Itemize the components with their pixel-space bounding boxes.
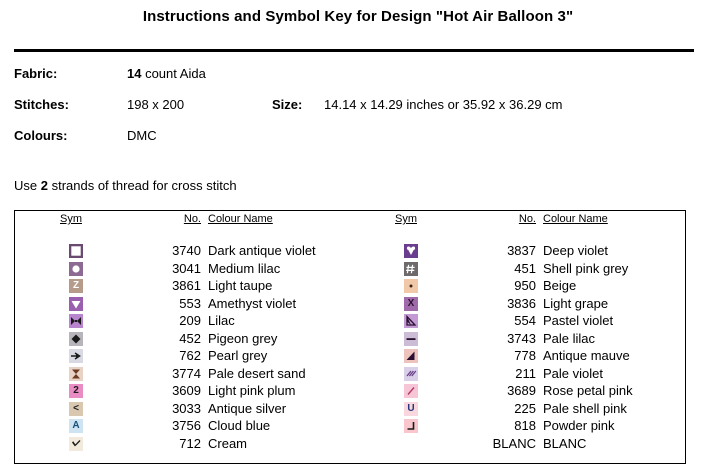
table-row: U225Pale shell pink [350,401,685,419]
symbol-swatch-icon [404,384,418,398]
table-row: 211Pale violet [350,366,685,384]
colour-name: Lilac [208,313,235,328]
dmc-number: 3743 [470,331,536,346]
symbol-swatch-icon: U [404,402,418,416]
table-row: 762Pearl grey [15,348,350,366]
dmc-number: 778 [470,348,536,363]
dmc-number: 553 [135,296,201,311]
table-row: 209Lilac [15,313,350,331]
table-row: 950Beige [350,278,685,296]
title-divider [14,49,694,52]
symbol-swatch-icon: 2 [69,384,83,398]
colour-name: Pearl grey [208,348,267,363]
size-label: Size: [272,97,302,112]
colour-name: Deep violet [543,243,608,258]
key-header-right: Sym No. Colour Name [350,211,685,233]
symbol-swatch-icon [69,262,83,276]
table-row: 3740Dark antique violet [15,243,350,261]
table-row: 23609Light pink plum [15,383,350,401]
fabric-count: 14 [127,66,141,81]
strands-suffix: strands of thread for cross stitch [48,178,237,193]
dmc-number: 554 [470,313,536,328]
symbol-swatch-icon [69,297,83,311]
colour-name: Medium lilac [208,261,280,276]
info-row-colours: Colours: DMC [14,128,704,159]
key-rows-left: 3740Dark antique violet3041Medium lilacZ… [15,243,350,453]
dmc-number: 3609 [135,383,201,398]
colour-name: Cloud blue [208,418,270,433]
colour-name: Light grape [543,296,608,311]
fabric-label: Fabric: [14,66,57,81]
table-row: A3756Cloud blue [15,418,350,436]
header-no: No. [490,213,536,225]
dmc-number: 225 [470,401,536,416]
colour-name: Pale desert sand [208,366,306,381]
colour-name: Pale lilac [543,331,595,346]
key-rows-right: 3837Deep violet451Shell pink grey950Beig… [350,243,685,453]
table-row: 818Powder pink [350,418,685,436]
strands-instruction: Use 2 strands of thread for cross stitch [14,178,237,193]
table-row: BLANCBLANC [350,436,685,454]
dmc-number: 3774 [135,366,201,381]
dmc-number: 3836 [470,296,536,311]
dmc-number: 818 [470,418,536,433]
dmc-number: 3837 [470,243,536,258]
dmc-number: 3041 [135,261,201,276]
symbol-swatch-icon [69,314,83,328]
symbol-swatch-icon: < [69,402,83,416]
fabric-value: 14 count Aida [127,66,206,81]
symbol-swatch-icon: Z [69,279,83,293]
colour-name: Light pink plum [208,383,295,398]
table-row: 452Pigeon grey [15,331,350,349]
strands-count: 2 [41,178,48,193]
table-row: 712Cream [15,436,350,454]
dmc-number: 762 [135,348,201,363]
colour-name: Light taupe [208,278,272,293]
symbol-swatch-icon [404,349,418,363]
symbol-swatch-icon [404,332,418,346]
symbol-swatch-icon [69,332,83,346]
stitches-label: Stitches: [14,97,69,112]
table-row: 778Antique mauve [350,348,685,366]
dmc-number: BLANC [470,436,536,451]
colour-name: Pale shell pink [543,401,627,416]
colour-name: Pale violet [543,366,603,381]
table-row: 553Amethyst violet [15,296,350,314]
strands-prefix: Use [14,178,41,193]
dmc-number: 950 [470,278,536,293]
colour-name: Antique mauve [543,348,630,363]
symbol-swatch-icon [69,244,83,258]
symbol-swatch-icon [404,419,418,433]
colour-name: Rose petal pink [543,383,633,398]
colour-name: Dark antique violet [208,243,316,258]
key-column-right: Sym No. Colour Name 3837Deep violet451Sh… [350,211,685,463]
header-no: No. [155,213,201,225]
dmc-number: 3689 [470,383,536,398]
symbol-swatch-icon: A [69,419,83,433]
info-row-stitches: Stitches: 198 x 200 Size: 14.14 x 14.29 … [14,97,704,128]
header-colour-name: Colour Name [208,213,273,225]
instructions-page: Instructions and Symbol Key for Design "… [0,0,716,476]
table-row: 3743Pale lilac [350,331,685,349]
key-header-left: Sym No. Colour Name [15,211,350,233]
colour-name: BLANC [543,436,586,451]
table-row: 3689Rose petal pink [350,383,685,401]
table-row: 3837Deep violet [350,243,685,261]
symbol-swatch-icon [404,367,418,381]
table-row: 451Shell pink grey [350,261,685,279]
dmc-number: 3756 [135,418,201,433]
symbol-swatch-icon: X [404,297,418,311]
dmc-number: 3861 [135,278,201,293]
symbol-swatch-icon [69,437,83,451]
colour-name: Amethyst violet [208,296,296,311]
dmc-number: 211 [470,366,536,381]
stitches-value: 198 x 200 [127,97,184,112]
key-column-left: Sym No. Colour Name 3740Dark antique vio… [15,211,350,463]
table-row: 554Pastel violet [350,313,685,331]
colour-name: Pigeon grey [208,331,277,346]
symbol-swatch-icon [404,314,418,328]
header-colour-name: Colour Name [543,213,608,225]
pattern-info: Fabric: 14 count Aida Stitches: 198 x 20… [14,66,704,159]
table-row: 3041Medium lilac [15,261,350,279]
dmc-number: 452 [135,331,201,346]
symbol-swatch-icon [69,367,83,381]
table-row: X3836Light grape [350,296,685,314]
colours-label: Colours: [14,128,67,143]
colours-value: DMC [127,128,157,143]
size-value: 14.14 x 14.29 inches or 35.92 x 36.29 cm [324,97,563,112]
symbol-swatch-icon [404,262,418,276]
colour-name: Cream [208,436,247,451]
symbol-swatch-icon [404,437,418,451]
symbol-key-table: Sym No. Colour Name 3740Dark antique vio… [14,210,686,464]
table-row: 3774Pale desert sand [15,366,350,384]
symbol-swatch-icon [404,244,418,258]
colour-name: Powder pink [543,418,615,433]
colour-name: Antique silver [208,401,286,416]
dmc-number: 3033 [135,401,201,416]
dmc-number: 451 [470,261,536,276]
colour-name: Beige [543,278,576,293]
header-sym: Sym [60,213,82,225]
dmc-number: 209 [135,313,201,328]
dmc-number: 3740 [135,243,201,258]
colour-name: Pastel violet [543,313,613,328]
symbol-swatch-icon [404,279,418,293]
dmc-number: 712 [135,436,201,451]
fabric-unit: count Aida [141,66,205,81]
table-row: <3033Antique silver [15,401,350,419]
header-sym: Sym [395,213,417,225]
info-row-fabric: Fabric: 14 count Aida [14,66,704,97]
table-row: Z3861Light taupe [15,278,350,296]
page-title: Instructions and Symbol Key for Design "… [0,8,716,25]
colour-name: Shell pink grey [543,261,628,276]
symbol-swatch-icon [69,349,83,363]
